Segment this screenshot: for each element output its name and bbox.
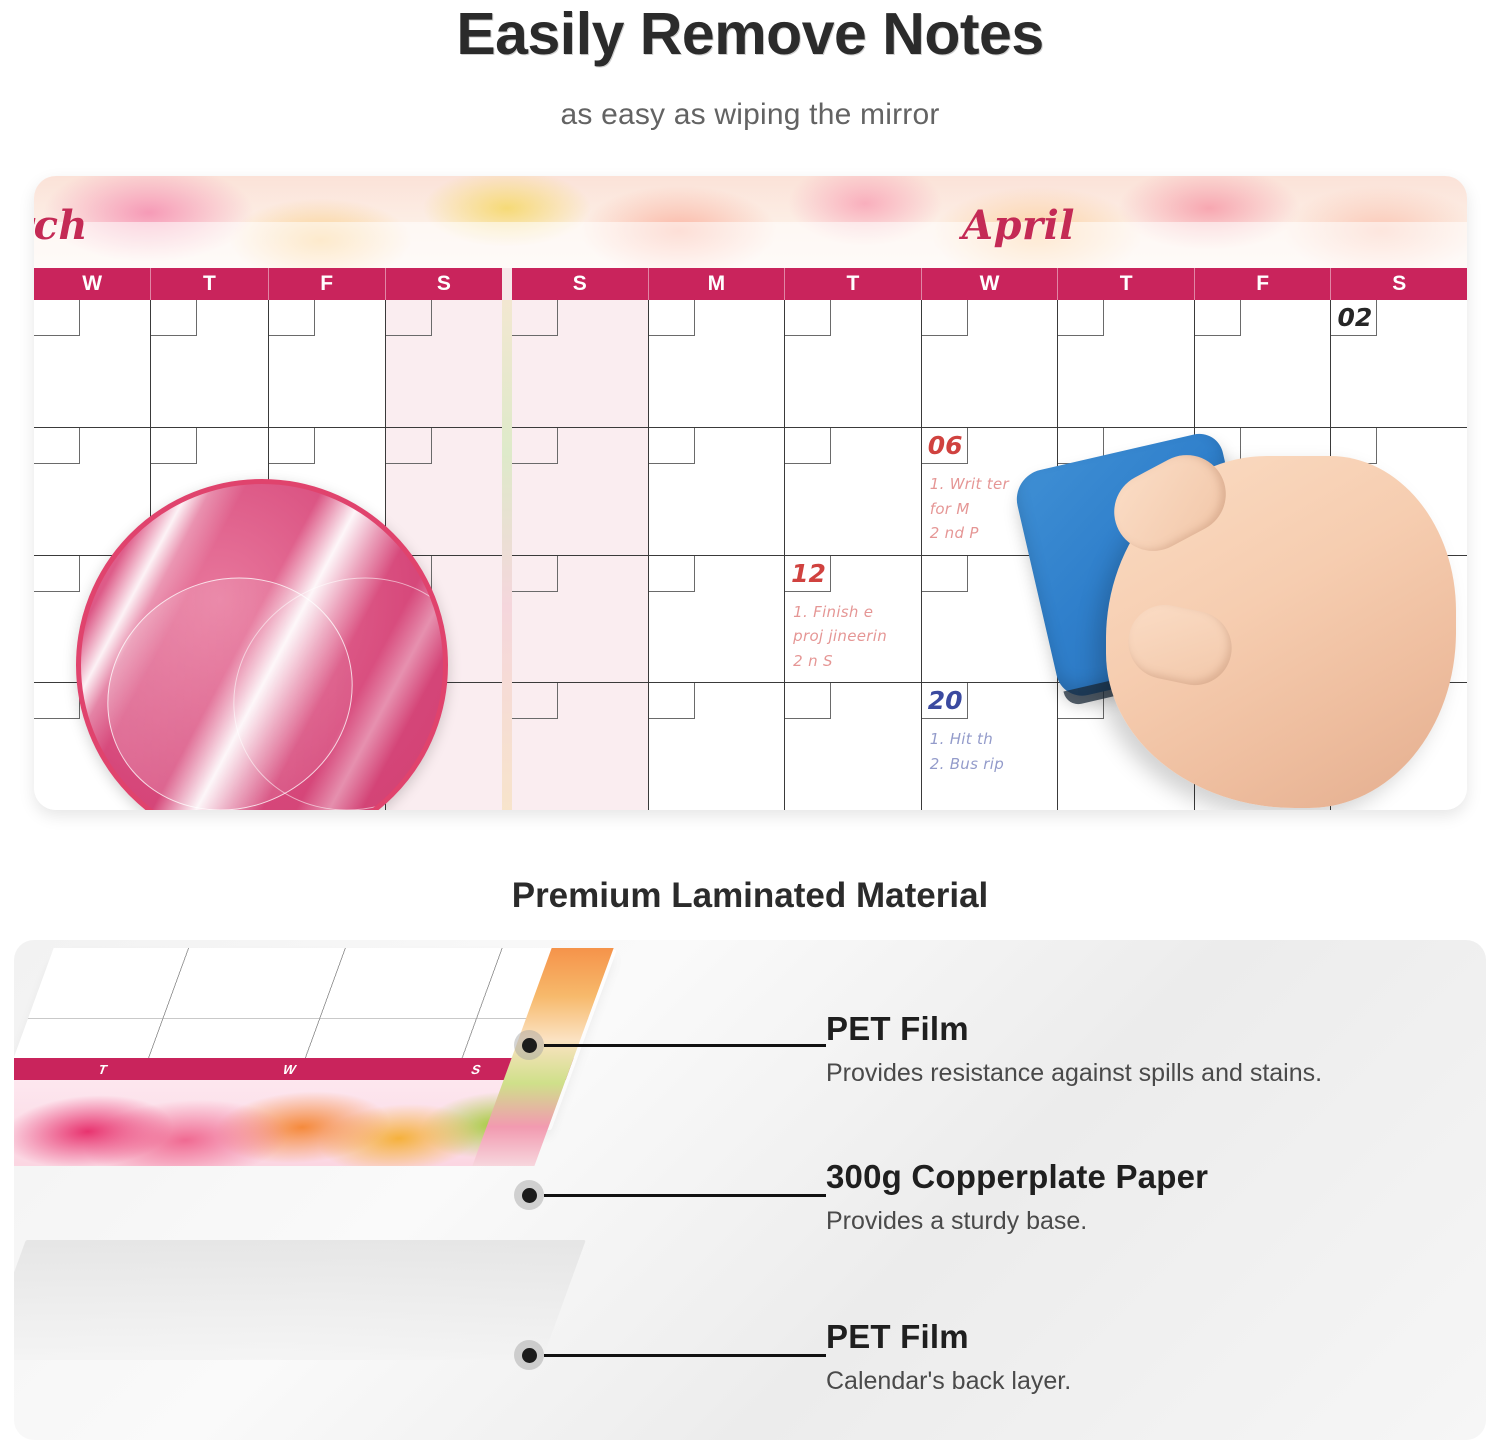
section-title-laminate: Premium Laminated Material [0, 876, 1500, 916]
dow-header: W [34, 268, 151, 300]
date-box [785, 428, 831, 464]
calendar-week-row [34, 300, 502, 428]
date-box [649, 428, 695, 464]
floral-art-banner [34, 176, 1467, 268]
calendar-cell[interactable] [512, 428, 649, 555]
hand-illustration [1106, 456, 1456, 808]
sheet-dow-header: T [14, 1062, 199, 1077]
calendar-cell[interactable] [386, 428, 502, 555]
callout-dot-ring [514, 1340, 544, 1370]
product-infographic-page: Easily Remove Notes as easy as wiping th… [0, 0, 1500, 1451]
date-box [269, 300, 315, 336]
dow-header: M [649, 268, 786, 300]
date-box [151, 428, 197, 464]
callout-dot [522, 1188, 537, 1203]
handwritten-note: 1. Finish e proj jineerin 2 n S [793, 600, 887, 674]
date-box [922, 556, 968, 592]
date-box [785, 683, 831, 719]
date-box [649, 556, 695, 592]
date-box [151, 300, 197, 336]
sheet-dow-header: W [194, 1062, 386, 1077]
calendar-cell-12[interactable]: 12 1. Finish e proj jineerin 2 n S [785, 556, 922, 683]
dow-header: F [269, 268, 386, 300]
date-box [512, 556, 558, 592]
dow-group-march: W T F S [34, 268, 502, 300]
callout-dot-ring [514, 1030, 544, 1060]
calendar-cell[interactable] [34, 300, 151, 427]
dow-header: T [785, 268, 922, 300]
callout-title: 300g Copperplate Paper [826, 1158, 1208, 1196]
month-label-april: April [962, 202, 1075, 249]
month-label-march: rch [34, 202, 88, 249]
date-box [34, 556, 80, 592]
calendar-cell[interactable] [512, 300, 649, 427]
callout-leader-line [544, 1354, 826, 1357]
calendar-cell[interactable] [785, 428, 922, 555]
calendar-cell[interactable] [649, 428, 786, 555]
callout-marker-paper [514, 1180, 826, 1210]
calendar-cell[interactable] [649, 683, 786, 810]
callout-dot [522, 1038, 537, 1053]
page-title: Easily Remove Notes [0, 0, 1500, 66]
date-box [1058, 300, 1104, 336]
calendar-cell[interactable] [269, 300, 386, 427]
dow-header: T [151, 268, 268, 300]
dow-header: S [1331, 268, 1467, 300]
date-number: 20 [928, 684, 963, 718]
page-seam [502, 300, 512, 810]
callout-dot-ring [514, 1180, 544, 1210]
finger [1121, 598, 1238, 692]
date-box [512, 683, 558, 719]
page-seam [502, 268, 512, 300]
callout-description: Provides a sturdy base. [826, 1196, 1208, 1236]
callout-title: PET Film [826, 1010, 1322, 1048]
layer-sheet-pet-bottom [14, 1240, 586, 1360]
date-number: 06 [928, 429, 963, 463]
dow-group-april: S M T W T F S [512, 268, 1467, 300]
calendar-cell[interactable] [1195, 300, 1332, 427]
date-box [922, 300, 968, 336]
callout-text-pet-top: PET Film Provides resistance against spi… [826, 1010, 1322, 1088]
calendar-cell[interactable] [151, 300, 268, 427]
dow-header: S [512, 268, 649, 300]
calendar-cell[interactable] [1058, 300, 1195, 427]
laminate-layers-diagram: T W S PET Film Provides resistance again… [14, 940, 1486, 1440]
calendar-cell[interactable] [785, 300, 922, 427]
handwritten-note: 1. Hit th 2. Bus rip [930, 727, 1004, 777]
calendar-cell[interactable] [512, 683, 649, 810]
callout-marker-pet-bottom [514, 1340, 826, 1370]
date-box [512, 300, 558, 336]
calendar-cell[interactable] [649, 300, 786, 427]
date-box [34, 428, 80, 464]
date-box [649, 683, 695, 719]
handwritten-note: 1. Writ ter for M 2 nd P [930, 472, 1009, 546]
callout-leader-line [544, 1194, 826, 1197]
headline-block: Easily Remove Notes as easy as wiping th… [0, 0, 1500, 132]
callout-marker-pet-top [514, 1030, 826, 1060]
dow-header: S [386, 268, 502, 300]
date-box [386, 300, 432, 336]
callout-text-paper: 300g Copperplate Paper Provides a sturdy… [826, 1158, 1208, 1236]
date-box [34, 300, 80, 336]
calendar-cell[interactable] [512, 556, 649, 683]
callout-title: PET Film [826, 1318, 1071, 1356]
callout-leader-line [544, 1044, 826, 1047]
day-of-week-bar: W T F S S M T W T F S [34, 268, 1467, 300]
calendar-cell-02[interactable]: 02 [1331, 300, 1467, 427]
date-number: 12 [791, 557, 826, 591]
date-box [34, 683, 80, 719]
dow-header: F [1195, 268, 1332, 300]
date-box [512, 428, 558, 464]
date-box [269, 428, 315, 464]
hand-with-eraser [1014, 438, 1467, 810]
calendar-cell[interactable] [922, 300, 1059, 427]
calendar-photo: rch April W T F S S M T W T F S [34, 176, 1467, 810]
calendar-cell[interactable] [386, 300, 502, 427]
callout-text-pet-bottom: PET Film Calendar's back layer. [826, 1318, 1071, 1396]
date-box [1195, 300, 1241, 336]
dow-header: W [922, 268, 1059, 300]
calendar-week-row: 02 [512, 300, 1467, 428]
date-box [785, 300, 831, 336]
callout-dot [522, 1348, 537, 1363]
calendar-cell[interactable] [649, 556, 786, 683]
date-box [649, 300, 695, 336]
calendar-cell[interactable] [785, 683, 922, 810]
callout-description: Provides resistance against spills and s… [826, 1048, 1322, 1088]
callout-description: Calendar's back layer. [826, 1356, 1071, 1396]
sheet-day-of-week-bar: T W S [14, 1058, 574, 1080]
page-subtitle: as easy as wiping the mirror [0, 66, 1500, 132]
date-box [386, 428, 432, 464]
date-number: 02 [1337, 301, 1372, 335]
dow-header: T [1058, 268, 1195, 300]
